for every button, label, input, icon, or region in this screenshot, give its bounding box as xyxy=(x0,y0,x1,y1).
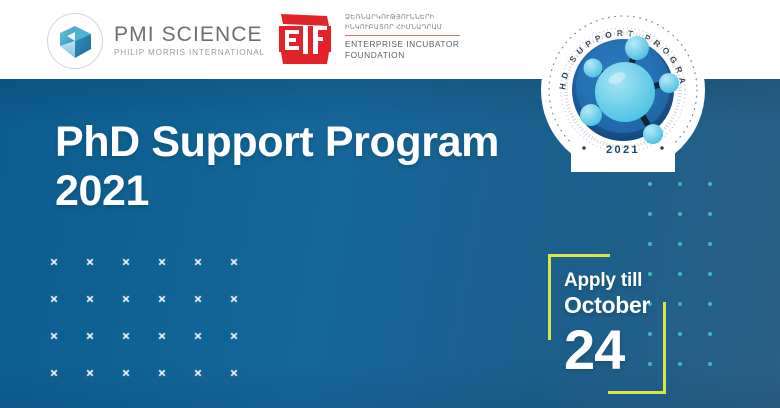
cross-mark xyxy=(230,369,238,377)
cross-mark xyxy=(158,258,166,266)
dot-mark xyxy=(678,302,682,306)
eif-letters-icon xyxy=(277,12,339,67)
cross-mark xyxy=(122,332,130,340)
cross-mark xyxy=(86,369,94,377)
cross-mark xyxy=(86,295,94,303)
eif-armenian-line-2: ԻՆԿՈՒԲԱՏՈՐ ՀԻՄՆԱԴՐԱՄ xyxy=(345,23,477,33)
apply-month-label: October xyxy=(564,292,668,319)
dot-mark xyxy=(708,182,712,186)
cross-mark xyxy=(158,332,166,340)
cross-mark xyxy=(50,295,58,303)
apply-day-number: 24 xyxy=(564,322,668,378)
dot-mark xyxy=(648,182,652,186)
apply-till-label: Apply till xyxy=(564,270,668,292)
page-title: PhD Support Program 2021 xyxy=(55,118,499,216)
dot-mark xyxy=(708,242,712,246)
pmi-cube-icon xyxy=(47,13,103,69)
pmi-wordmark: PMI SCIENCE PHILIP MORRIS INTERNATIONAL xyxy=(114,24,265,57)
dot-mark xyxy=(648,242,652,246)
badge-graphic: PHD SUPPORT PROGRAM xyxy=(541,8,705,172)
cross-mark xyxy=(122,295,130,303)
title-line-2: 2021 xyxy=(55,167,499,216)
eif-divider xyxy=(345,35,460,36)
cross-mark xyxy=(194,369,202,377)
dot-mark xyxy=(708,332,712,336)
cross-mark xyxy=(194,295,202,303)
dot-mark xyxy=(678,362,682,366)
dot-mark xyxy=(678,212,682,216)
cross-mark xyxy=(86,258,94,266)
phd-support-program-banner: PMI SCIENCE PHILIP MORRIS INTERNATIONAL xyxy=(0,0,780,408)
cross-mark xyxy=(50,258,58,266)
cross-mark xyxy=(158,369,166,377)
svg-text:2021: 2021 xyxy=(606,144,640,156)
decorative-cross-grid xyxy=(50,258,266,406)
eif-wordmark: ՁԵՌՆԱՐԿՈՒԹՅՈՒՆՆԵՐԻ ԻՆԿՈՒԲԱՏՈՐ ՀԻՄՆԱԴՐԱՄ … xyxy=(345,13,477,62)
dot-mark xyxy=(708,362,712,366)
eif-english-line-2: FOUNDATION xyxy=(345,50,477,61)
cross-mark xyxy=(230,295,238,303)
dot-mark xyxy=(678,242,682,246)
dot-mark xyxy=(678,272,682,276)
dot-mark xyxy=(708,212,712,216)
pmi-science-logo[interactable]: PMI SCIENCE PHILIP MORRIS INTERNATIONAL xyxy=(47,12,252,70)
cross-mark xyxy=(194,332,202,340)
phd-program-badge: PHD SUPPORT PROGRAM xyxy=(541,8,705,172)
dot-mark xyxy=(648,212,652,216)
cross-mark xyxy=(50,369,58,377)
cross-mark xyxy=(122,369,130,377)
apply-deadline-block: Apply till October 24 xyxy=(548,254,666,394)
apply-deadline-text: Apply till October 24 xyxy=(564,270,668,378)
cross-mark xyxy=(230,258,238,266)
title-line-1: PhD Support Program xyxy=(55,118,499,166)
cross-mark xyxy=(194,258,202,266)
dot-mark xyxy=(708,272,712,276)
eif-logo[interactable]: ՁԵՌՆԱՐԿՈՒԹՅՈՒՆՆԵՐԻ ԻՆԿՈՒԲԱՏՈՐ ՀԻՄՆԱԴՐԱՄ … xyxy=(277,10,477,70)
cross-mark xyxy=(50,332,58,340)
pmi-subtitle: PHILIP MORRIS INTERNATIONAL xyxy=(114,49,265,57)
eif-english-line-1: ENTERPRISE INCUBATOR xyxy=(345,39,477,50)
pmi-name: PMI SCIENCE xyxy=(114,24,265,45)
dot-mark xyxy=(708,302,712,306)
cross-mark xyxy=(158,295,166,303)
dot-mark xyxy=(678,332,682,336)
cross-mark xyxy=(122,258,130,266)
dot-mark xyxy=(678,182,682,186)
cross-mark xyxy=(230,332,238,340)
eif-armenian-line-1: ՁԵՌՆԱՐԿՈՒԹՅՈՒՆՆԵՐԻ xyxy=(345,13,477,23)
cross-mark xyxy=(86,332,94,340)
